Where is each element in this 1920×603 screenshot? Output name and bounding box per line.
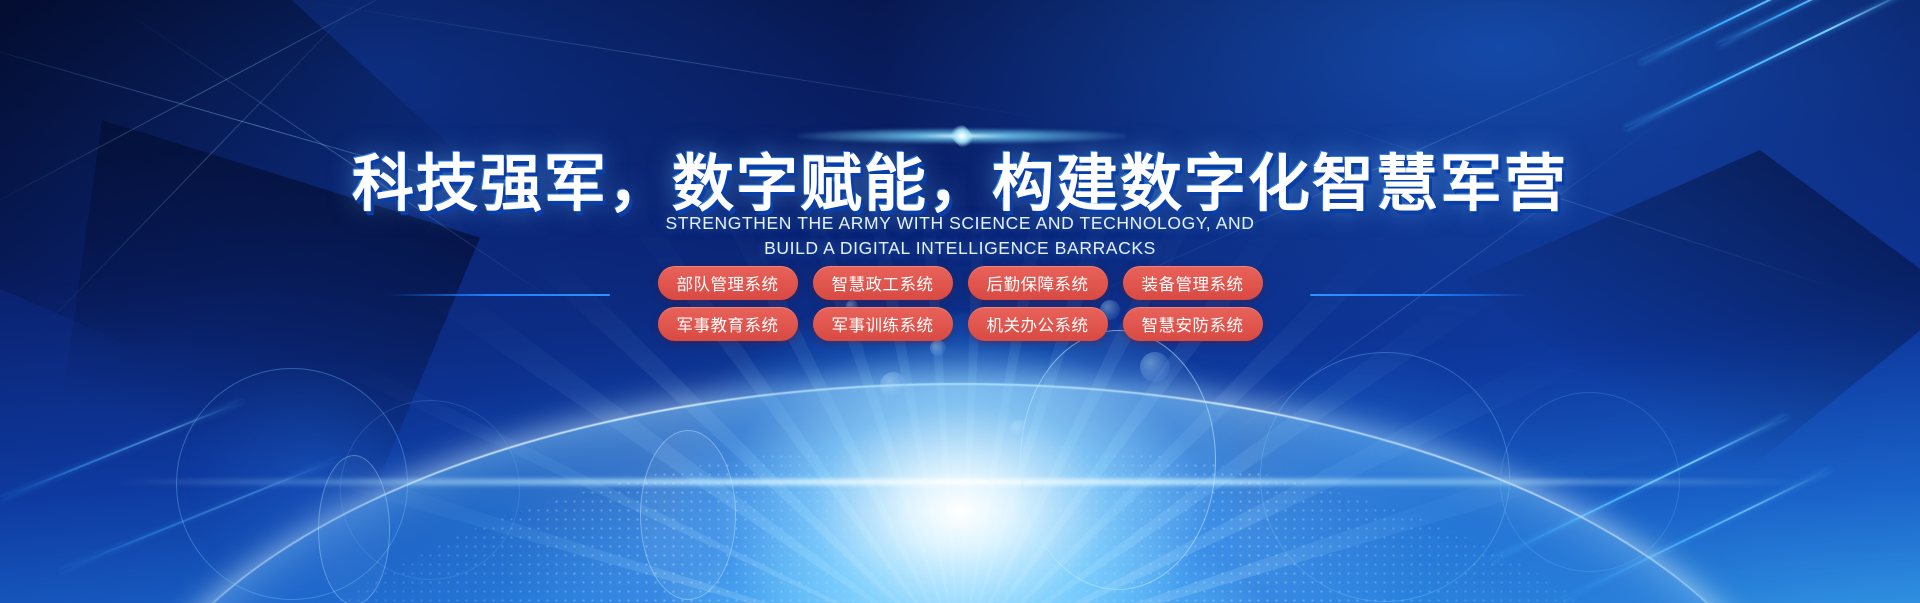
system-button-row: 军事教育系统 军事训练系统 机关办公系统 智慧安防系统: [658, 307, 1263, 341]
banner-subtitle-line-2: BUILD A DIGITAL INTELLIGENCE BARRACKS: [0, 236, 1920, 261]
system-button-troop-management[interactable]: 部队管理系统: [658, 266, 798, 300]
system-button-military-education[interactable]: 军事教育系统: [658, 307, 798, 341]
banner-subtitle: STRENGTHEN THE ARMY WITH SCIENCE AND TEC…: [0, 211, 1920, 261]
banner-content: 科技强军，数字赋能，构建数字化智慧军营 STRENGTHEN THE ARMY …: [0, 0, 1920, 603]
system-button-grid: 部队管理系统 智慧政工系统 后勤保障系统 装备管理系统 军事教育系统 军事训练系…: [0, 266, 1920, 341]
system-button-smart-security[interactable]: 智慧安防系统: [1123, 307, 1263, 341]
system-button-row: 部队管理系统 智慧政工系统 后勤保障系统 装备管理系统: [658, 266, 1263, 300]
system-button-equipment-management[interactable]: 装备管理系统: [1123, 266, 1263, 300]
system-button-logistics-support[interactable]: 后勤保障系统: [968, 266, 1108, 300]
hero-banner: 科技强军，数字赋能，构建数字化智慧军营 STRENGTHEN THE ARMY …: [0, 0, 1920, 603]
system-button-military-training[interactable]: 军事训练系统: [813, 307, 953, 341]
system-button-office-affairs[interactable]: 机关办公系统: [968, 307, 1108, 341]
banner-title: 科技强军，数字赋能，构建数字化智慧军营: [0, 133, 1920, 223]
banner-subtitle-line-1: STRENGTHEN THE ARMY WITH SCIENCE AND TEC…: [0, 211, 1920, 236]
system-button-smart-political-work[interactable]: 智慧政工系统: [813, 266, 953, 300]
